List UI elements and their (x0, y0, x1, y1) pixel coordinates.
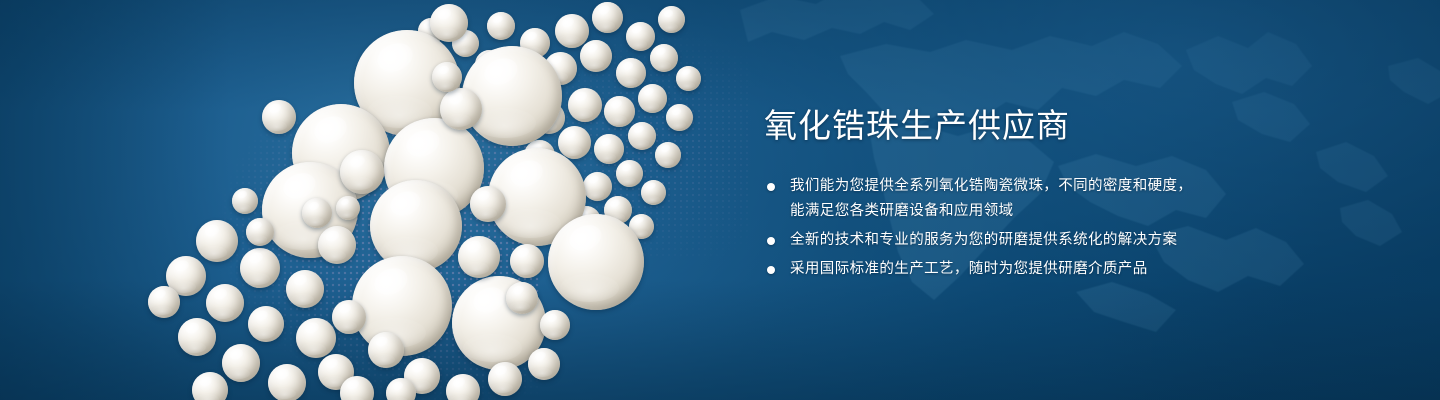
hero-banner: 氧化锆珠生产供应商 我们能为您提供全系列氧化锆陶瓷微珠，不同的密度和硬度， 能满… (0, 0, 1440, 400)
banner-bullet-list: 我们能为您提供全系列氧化锆陶瓷微珠，不同的密度和硬度， 能满足您各类研磨设备和应… (764, 174, 1384, 282)
bullet-item: 我们能为您提供全系列氧化锆陶瓷微珠，不同的密度和硬度， 能满足您各类研磨设备和应… (764, 174, 1384, 224)
banner-text-block: 氧化锆珠生产供应商 我们能为您提供全系列氧化锆陶瓷微珠，不同的密度和硬度， 能满… (764, 104, 1384, 286)
bullet-line: 全新的技术和专业的服务为您的研磨提供系统化的解决方案 (790, 228, 1384, 253)
bullet-line: 能满足您各类研磨设备和应用领域 (790, 199, 1384, 224)
bullet-dot-icon (767, 237, 775, 245)
bullet-item: 采用国际标准的生产工艺，随时为您提供研磨介质产品 (764, 257, 1384, 282)
bullet-line: 我们能为您提供全系列氧化锆陶瓷微珠，不同的密度和硬度， (790, 174, 1384, 199)
bullet-item: 全新的技术和专业的服务为您的研磨提供系统化的解决方案 (764, 228, 1384, 253)
banner-headline: 氧化锆珠生产供应商 (764, 104, 1384, 148)
bullet-line: 采用国际标准的生产工艺，随时为您提供研磨介质产品 (790, 257, 1384, 282)
bullet-dot-icon (767, 183, 775, 191)
bullet-dot-icon (767, 266, 775, 274)
